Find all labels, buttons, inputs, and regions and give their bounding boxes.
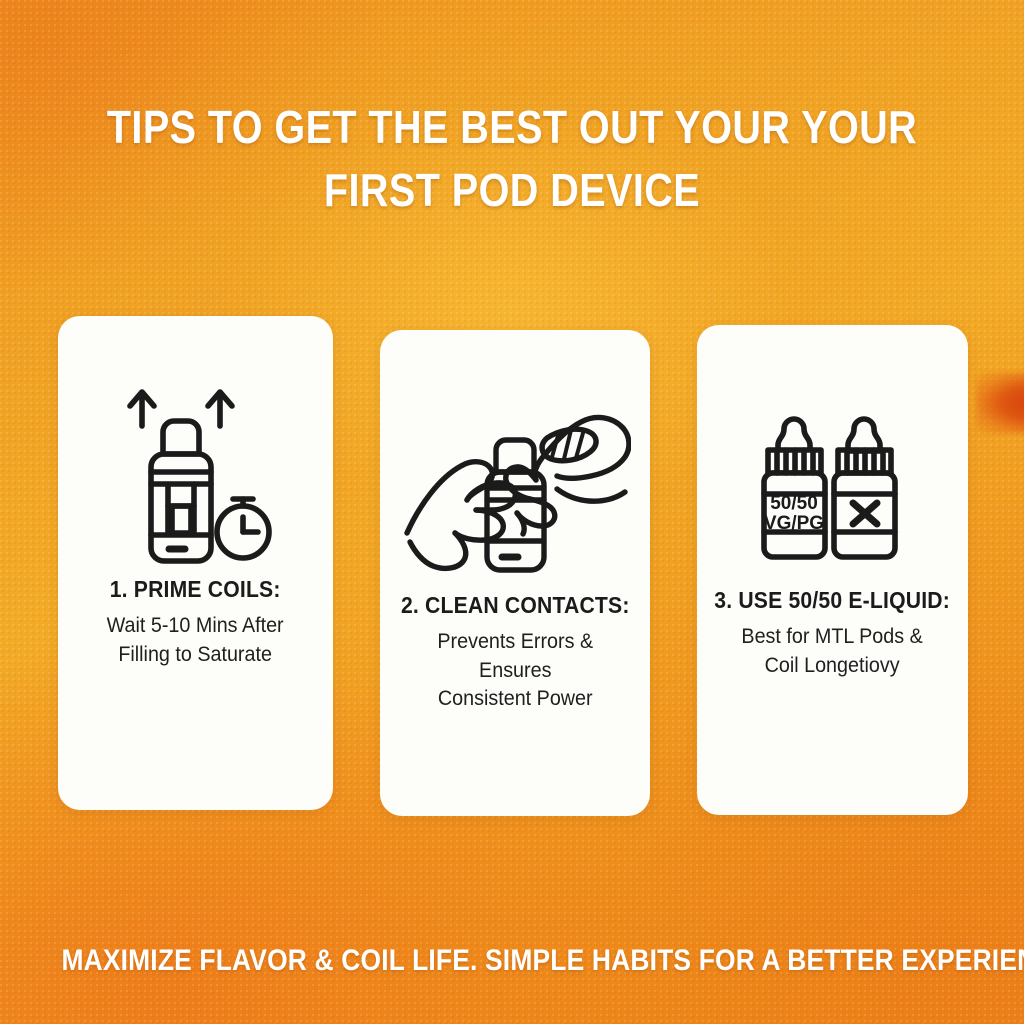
arrow-up-left-icon <box>130 392 154 426</box>
stopwatch-icon <box>217 499 269 558</box>
pod-device-icon <box>487 440 544 570</box>
infographic-poster: TIPS TO GET THE BEST OUT YOUR YOUR FIRST… <box>0 0 1024 1024</box>
tip-card-text: 3. USE 50/50 E-LIQUID: Best for MTL Pods… <box>690 587 974 680</box>
footer-tagline: MAXIMIZE FLAVOR & COIL LIFE. SIMPLE HABI… <box>61 944 962 978</box>
tip-card-description: Prevents Errors & Ensures Consistent Pow… <box>398 628 632 714</box>
bottle-ratio-line2: VG/PG <box>763 513 823 534</box>
bottle-ratio-line1: 50/50 <box>770 493 818 514</box>
gripping-hand-icon <box>407 462 515 569</box>
eliquid-bottle-left <box>764 419 825 557</box>
tip-card-use-5050-eliquid[interactable]: 50/50 VG/PG 3. USE 50/50 E-LIQUID: Best … <box>697 325 968 815</box>
tip-card-clean-contacts[interactable]: 2. CLEAN CONTACTS: Prevents Errors & Ens… <box>380 330 650 816</box>
tip-card-title: 1. PRIME COILS: <box>109 576 282 603</box>
tip-card-text: 1. PRIME COILS: Wait 5-10 Mins After Fil… <box>87 576 303 669</box>
tip-card-prime-coils[interactable]: 1. PRIME COILS: Wait 5-10 Mins After Fil… <box>58 316 333 810</box>
arrow-up-right-icon <box>208 392 232 426</box>
page-title: TIPS TO GET THE BEST OUT YOUR YOUR FIRST… <box>72 96 953 223</box>
eliquid-bottle-right <box>834 419 895 557</box>
eliquid-bottles-icon: 50/50 VG/PG <box>744 379 922 587</box>
tip-card-description: Wait 5-10 Mins After Filling to Saturate <box>107 612 284 669</box>
tip-card-title: 2. CLEAN CONTACTS: <box>401 592 630 619</box>
red-accent-blob <box>976 372 1024 434</box>
hand-cleaning-contacts-icon <box>399 384 631 592</box>
cleaning-hand-icon <box>506 417 629 534</box>
tip-card-description: Best for MTL Pods & Coil Longetiovy <box>712 623 953 680</box>
tip-card-title: 3. USE 50/50 E-LIQUID: <box>715 587 951 614</box>
cross-mark-icon <box>853 503 877 524</box>
tips-card-row: 1. PRIME COILS: Wait 5-10 Mins After Fil… <box>58 316 968 816</box>
pod-device-priming-icon <box>106 368 286 576</box>
tip-card-text: 2. CLEAN CONTACTS: Prevents Errors & Ens… <box>377 592 654 714</box>
